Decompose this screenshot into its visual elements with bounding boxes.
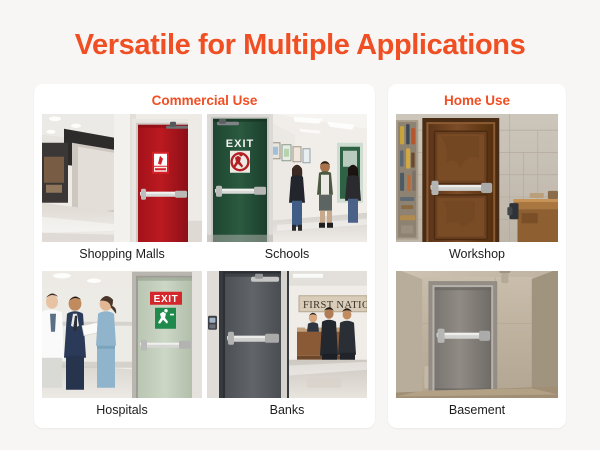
scene-mall (42, 114, 202, 242)
svg-text:EXIT: EXIT (226, 138, 254, 150)
panel-title-commercial: Commercial Use (42, 92, 367, 109)
scene-workshop (396, 114, 558, 242)
tile-banks[interactable]: FIRST NATIONAL B (207, 271, 367, 423)
tile-schools[interactable]: EXIT (207, 114, 367, 266)
tile-label-schools: Schools (207, 242, 367, 266)
tile-label-shopping-malls: Shopping Malls (42, 242, 202, 266)
tile-label-hospitals: Hospitals (42, 398, 202, 422)
panel-commercial: Commercial Use (34, 84, 375, 428)
panels-container: Commercial Use (34, 84, 566, 428)
svg-text:EXIT: EXIT (154, 294, 179, 305)
thumbnail-basement (396, 271, 558, 399)
scene-basement (396, 271, 558, 399)
tile-label-banks: Banks (207, 398, 367, 422)
page-title: Versatile for Multiple Applications (0, 29, 600, 62)
tile-shopping-malls[interactable]: Shopping Malls (42, 114, 202, 266)
thumbnail-schools: EXIT (207, 114, 367, 242)
tile-hospitals[interactable]: EXIT (42, 271, 202, 423)
scene-school: EXIT (207, 114, 367, 242)
panel-home: Home Use (388, 84, 566, 428)
tile-workshop[interactable]: Workshop (396, 114, 558, 266)
thumbnail-workshop (396, 114, 558, 242)
thumbnail-shopping-malls (42, 114, 202, 242)
panel-title-home: Home Use (396, 92, 558, 109)
commercial-tile-grid: Shopping Malls (42, 114, 367, 422)
bank-sign-text: FIRST NATIONAL B (303, 299, 367, 310)
thumbnail-banks: FIRST NATIONAL B (207, 271, 367, 399)
home-tile-grid: Workshop (396, 114, 558, 422)
thumbnail-hospitals: EXIT (42, 271, 202, 399)
tile-label-basement: Basement (396, 398, 558, 422)
poster-root: Versatile for Multiple Applications Comm… (0, 0, 600, 450)
tile-label-workshop: Workshop (396, 242, 558, 266)
tile-basement[interactable]: Basement (396, 271, 558, 423)
scene-bank: FIRST NATIONAL B (207, 271, 367, 399)
scene-hospital: EXIT (42, 271, 202, 399)
